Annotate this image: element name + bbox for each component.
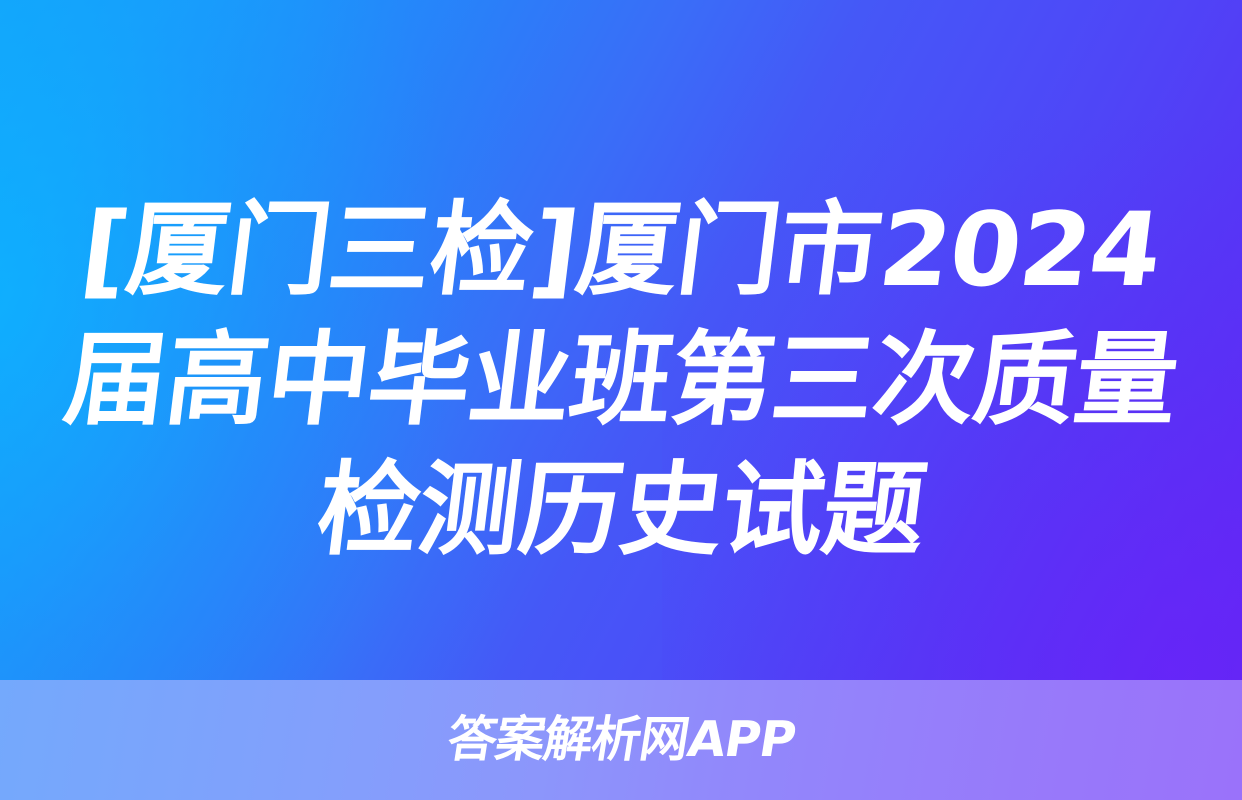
app-watermark-label: 答案解析网APP [443, 713, 798, 767]
page-title: [厦门三检]厦门市2024 届高中毕业班第三次质量 检测历史试题 [0, 186, 1242, 576]
title-line-2: 届高中毕业班第三次质量 [36, 316, 1206, 446]
watermark-band: 答案解析网APP [0, 680, 1242, 800]
title-line-1: [厦门三检]厦门市2024 [36, 186, 1206, 316]
title-line-3: 检测历史试题 [36, 446, 1206, 576]
poster-canvas: [厦门三检]厦门市2024 届高中毕业班第三次质量 检测历史试题 答案解析网AP… [0, 0, 1242, 800]
